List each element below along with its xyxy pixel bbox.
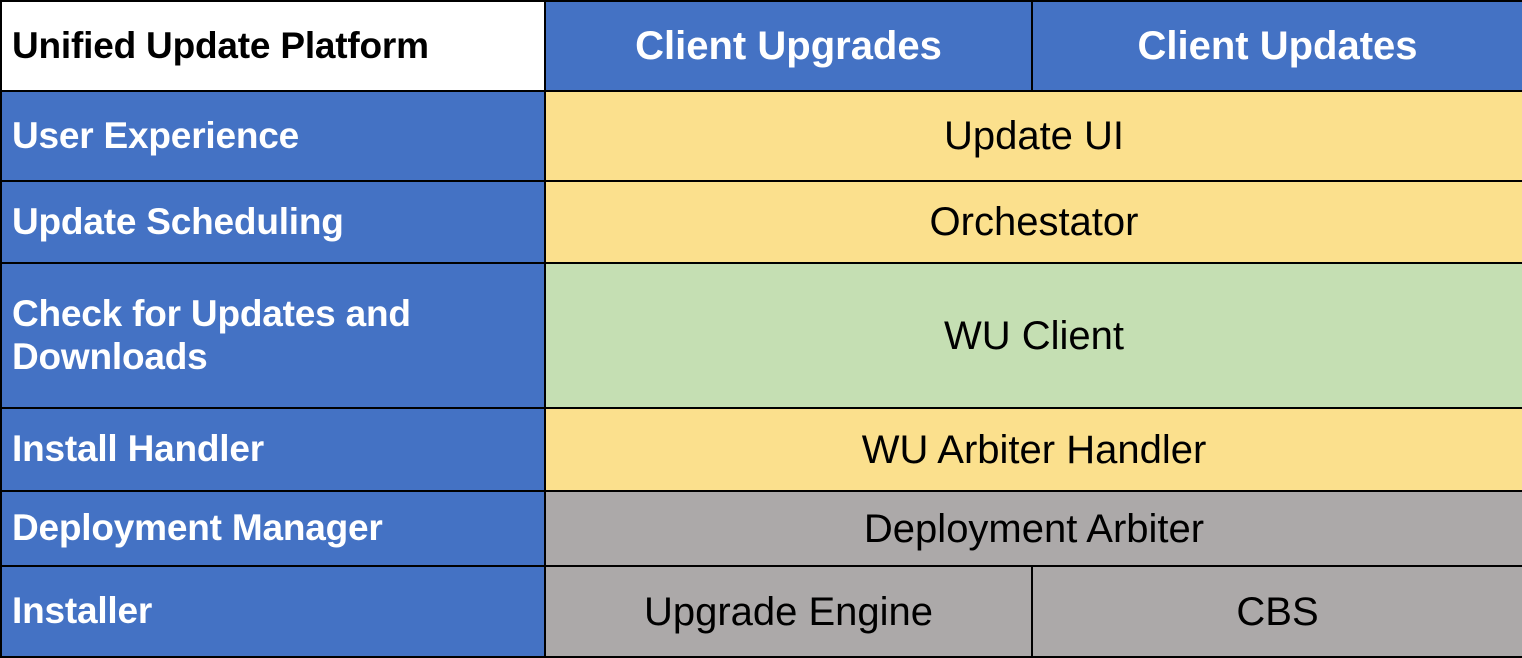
cell-upgrade-engine: Upgrade Engine <box>545 566 1032 657</box>
row-label-deployment-manager: Deployment Manager <box>1 491 545 566</box>
table-row: Update Scheduling Orchestator <box>1 181 1522 263</box>
page-title: Unified Update Platform <box>1 1 545 91</box>
row-label-check-for-updates-and-downloads: Check for Updates and Downloads <box>1 263 545 408</box>
uup-architecture-diagram: Unified Update Platform Client Upgrades … <box>0 0 1522 656</box>
table-row: User Experience Update UI <box>1 91 1522 181</box>
cell-orchestator: Orchestator <box>545 181 1522 263</box>
cell-deployment-arbiter: Deployment Arbiter <box>545 491 1522 566</box>
row-label-installer: Installer <box>1 566 545 657</box>
table-row: Deployment Manager Deployment Arbiter <box>1 491 1522 566</box>
row-label-user-experience: User Experience <box>1 91 545 181</box>
table-header-row: Unified Update Platform Client Upgrades … <box>1 1 1522 91</box>
table-row: Install Handler WU Arbiter Handler <box>1 408 1522 491</box>
column-header-client-updates: Client Updates <box>1032 1 1522 91</box>
table-row: Check for Updates and Downloads WU Clien… <box>1 263 1522 408</box>
uup-layer-table: Unified Update Platform Client Upgrades … <box>0 0 1522 658</box>
table-row: Installer Upgrade Engine CBS <box>1 566 1522 657</box>
column-header-client-upgrades: Client Upgrades <box>545 1 1032 91</box>
cell-update-ui: Update UI <box>545 91 1522 181</box>
cell-cbs: CBS <box>1032 566 1522 657</box>
row-label-update-scheduling: Update Scheduling <box>1 181 545 263</box>
cell-wu-arbiter-handler: WU Arbiter Handler <box>545 408 1522 491</box>
row-label-install-handler: Install Handler <box>1 408 545 491</box>
cell-wu-client: WU Client <box>545 263 1522 408</box>
